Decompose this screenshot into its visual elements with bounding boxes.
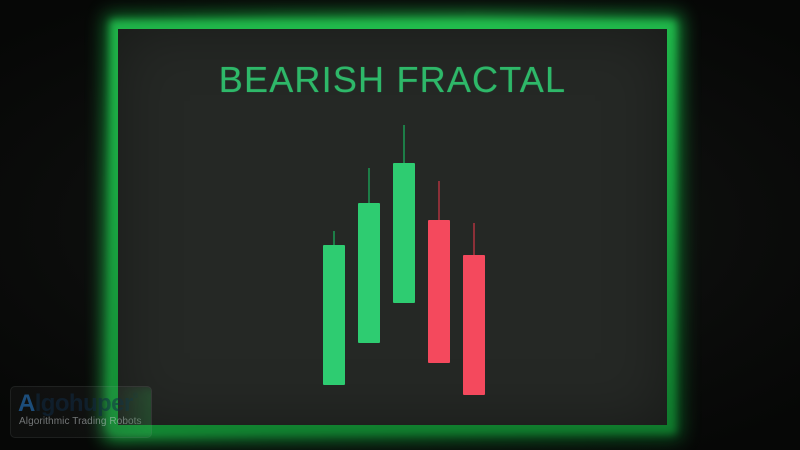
candlestick-3-bullish (393, 29, 415, 425)
candlestick-body (463, 255, 485, 395)
trademark-symbol: ® (133, 393, 138, 400)
candlestick-1-bullish (323, 29, 345, 425)
screenshot-stage: BEARISH FRACTAL Algohuper ® Algorithmic … (0, 0, 800, 450)
candlestick-body (428, 220, 450, 363)
chart-panel: BEARISH FRACTAL (118, 29, 667, 425)
candlestick-body (358, 203, 380, 343)
candlestick-2-bullish (358, 29, 380, 425)
candlestick-4-bearish (428, 29, 450, 425)
brand-tagline: Algorithmic Trading Robots (19, 416, 142, 427)
candlestick-5-bearish (463, 29, 485, 425)
brand-wordmark: Algohuper (18, 390, 133, 418)
candlestick-body (323, 245, 345, 385)
candlestick-body (393, 163, 415, 303)
watermark-logo: Algohuper ® Algorithmic Trading Robots (10, 386, 152, 438)
brand-rest-letters: lgohuper (35, 390, 133, 417)
brand-accent-letter: A (18, 390, 35, 417)
candlestick-chart (118, 29, 667, 425)
